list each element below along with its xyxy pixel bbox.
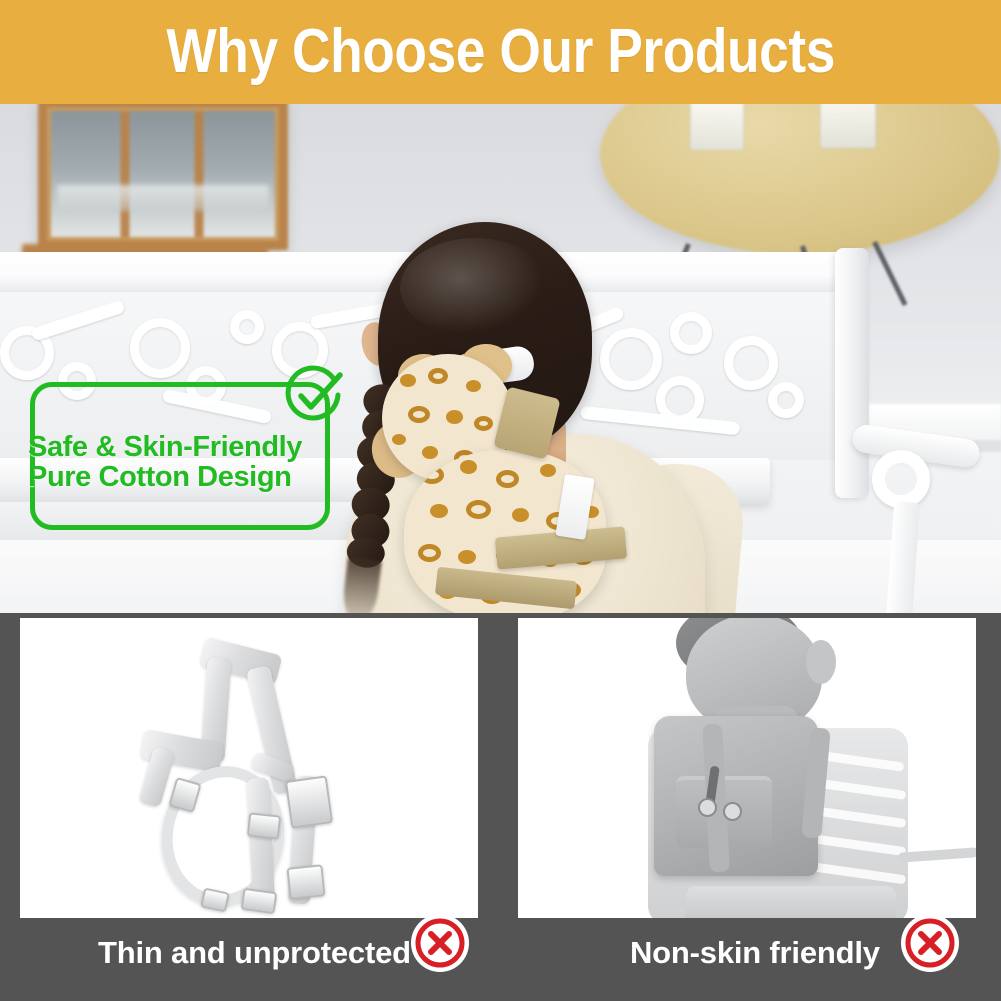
- leopard-spot: [496, 470, 519, 488]
- glassware: [690, 104, 744, 150]
- caption-text: Thin and unprotected: [98, 935, 411, 971]
- braid-tail: [341, 557, 382, 613]
- comparison-section: Thin and unprotected Non-skin friendly: [0, 613, 1001, 1001]
- x-circle-icon: [900, 913, 960, 973]
- leopard-spot: [458, 550, 476, 564]
- wooden-cabinet: [38, 104, 288, 250]
- leopard-spot: [540, 464, 556, 477]
- filigree-scroll: [230, 310, 264, 344]
- filigree-bar: [30, 299, 125, 341]
- callout-line-2: Pure Cotton Design: [28, 462, 334, 492]
- cabinet-shelf: [57, 185, 269, 211]
- hero-lifestyle-photo: Safe & Skin-Friendly Pure Cotton Design: [0, 104, 1001, 613]
- leopard-spot: [392, 434, 406, 445]
- harness-leash: [898, 847, 976, 863]
- leopard-spot: [400, 374, 416, 387]
- leopard-spot: [430, 504, 448, 518]
- harness-buckle: [241, 888, 278, 915]
- filigree-scroll: [670, 312, 712, 354]
- toddler-pants: [686, 886, 896, 918]
- leopard-spot: [418, 544, 441, 562]
- leopard-spot: [420, 466, 444, 484]
- leopard-spot: [512, 508, 529, 522]
- leopard-spot: [460, 460, 477, 474]
- harness-buckle: [286, 864, 325, 900]
- leopard-spot: [428, 368, 448, 384]
- filigree-scroll: [724, 336, 778, 390]
- bench-armrest-post: [835, 248, 869, 498]
- backpack-charm-bead: [723, 802, 742, 821]
- filigree-scroll: [130, 318, 190, 378]
- leopard-spot: [408, 406, 430, 423]
- filigree-scroll: [768, 382, 804, 418]
- leopard-spot: [474, 416, 493, 431]
- page-title: Why Choose Our Products: [166, 21, 835, 83]
- leopard-spot: [422, 446, 438, 459]
- harness-buckle: [247, 812, 281, 839]
- filigree-scroll: [600, 328, 662, 390]
- comparison-image-non-skin-friendly: [518, 618, 976, 918]
- feature-callout-text: Safe & Skin-Friendly Pure Cotton Design: [28, 432, 334, 492]
- harness-buckle: [200, 888, 230, 913]
- callout-line-1: Safe & Skin-Friendly: [28, 432, 334, 462]
- backpack-charm-bead: [698, 798, 717, 817]
- comparison-image-thin-harness: [20, 618, 478, 918]
- leopard-spot: [446, 410, 463, 424]
- caption-text: Non-skin friendly: [630, 935, 880, 971]
- header-banner: Why Choose Our Products: [0, 0, 1001, 104]
- x-circle-icon: [410, 913, 470, 973]
- leopard-spot: [466, 500, 491, 519]
- check-circle-icon: [283, 365, 345, 427]
- leopard-spot: [466, 380, 481, 392]
- glassware: [820, 104, 876, 148]
- toddler-ear: [806, 640, 836, 684]
- filigree-scroll: [58, 362, 96, 400]
- harness-buckle: [285, 775, 333, 828]
- product-infographic: Why Choose Our Products: [0, 0, 1001, 1001]
